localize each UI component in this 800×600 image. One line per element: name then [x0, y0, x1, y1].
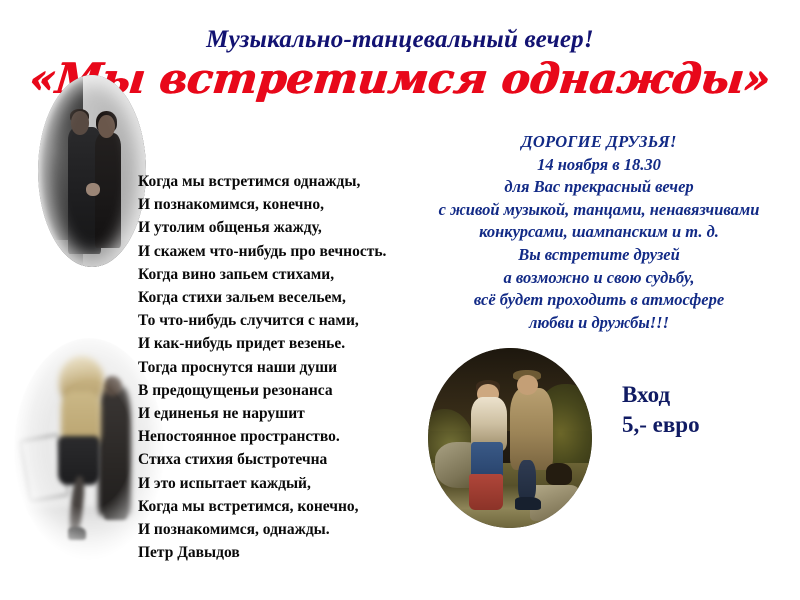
entry-price: Вход 5,- евро	[622, 380, 700, 440]
painting-man-boot	[515, 497, 541, 510]
dancers-man-head	[103, 376, 123, 396]
painting-woman-red-skirt	[469, 474, 503, 510]
poem-line: Стиха стихия быстротечна	[138, 448, 438, 471]
poem-author: Петр Давыдов	[138, 541, 438, 564]
poem-line: Когда стихи зальем весельем,	[138, 286, 438, 309]
invitation-datetime: 14 ноября в 18.30	[398, 154, 800, 177]
poem-line: И познакомимся, однажды.	[138, 518, 438, 541]
oval-painting	[428, 348, 592, 528]
page-title: Музыкально-танцевальный вечер!	[0, 26, 800, 54]
entry-amount: 5,- евро	[622, 410, 700, 440]
poem-line: И утолим общенья жажду,	[138, 216, 438, 239]
invitation-line: для Вас прекрасный вечер	[398, 176, 800, 199]
invitation-line: а возможно и свою судьбу,	[398, 267, 800, 290]
poem-line: И скажем что-нибудь про вечность.	[138, 240, 438, 263]
invitation-greeting: ДОРОГИЕ ДРУЗЬЯ!	[398, 131, 800, 154]
invitation-line: всё будет проходить в атмосфере	[398, 289, 800, 312]
poem-line: Тогда проснутся наши души	[138, 356, 438, 379]
dancers-man-body	[98, 387, 131, 516]
dancers-man-shoe	[104, 507, 127, 520]
poem-line: Когда мы встретимся, конечно,	[138, 495, 438, 518]
dancers-woman-shoe	[68, 527, 86, 540]
poem-line: Когда вино запьем стихами,	[138, 263, 438, 286]
painting-man-body	[510, 388, 553, 471]
couple-photo	[38, 75, 146, 267]
poem-line: И как-нибудь придет везенье.	[138, 332, 438, 355]
painting-man-head	[517, 375, 538, 395]
painting-dog	[546, 463, 572, 485]
painting-man-leg	[518, 460, 536, 503]
invitation-line: конкурсами, шампанским и т. д.	[398, 221, 800, 244]
entry-label: Вход	[622, 380, 700, 410]
poem-text: Когда мы встретимся однажды, И познакоми…	[138, 170, 438, 564]
invitation-line: Вы встретите друзей	[398, 244, 800, 267]
poem-line: То что-нибудь случится с нами,	[138, 309, 438, 332]
event-poster: Музыкально-танцевальный вечер! «Мы встре…	[0, 0, 800, 600]
poem-line: И это испытает каждый,	[138, 472, 438, 495]
poem-line: В предощущеньи резонанса	[138, 379, 438, 402]
poem-line: Непостоянное пространство.	[138, 425, 438, 448]
invitation-text: ДОРОГИЕ ДРУЗЬЯ! 14 ноября в 18.30 для Ва…	[398, 131, 800, 334]
invitation-line: с живой музыкой, танцами, ненавязчивами	[398, 199, 800, 222]
poem-line: И познакомимся, конечно,	[138, 193, 438, 216]
poem-line: И единенья не нарушит	[138, 402, 438, 425]
poem-line: Когда мы встретимся однажды,	[138, 170, 438, 193]
photo-vignette	[38, 75, 146, 267]
invitation-line: любви и дружбы!!!	[398, 312, 800, 335]
